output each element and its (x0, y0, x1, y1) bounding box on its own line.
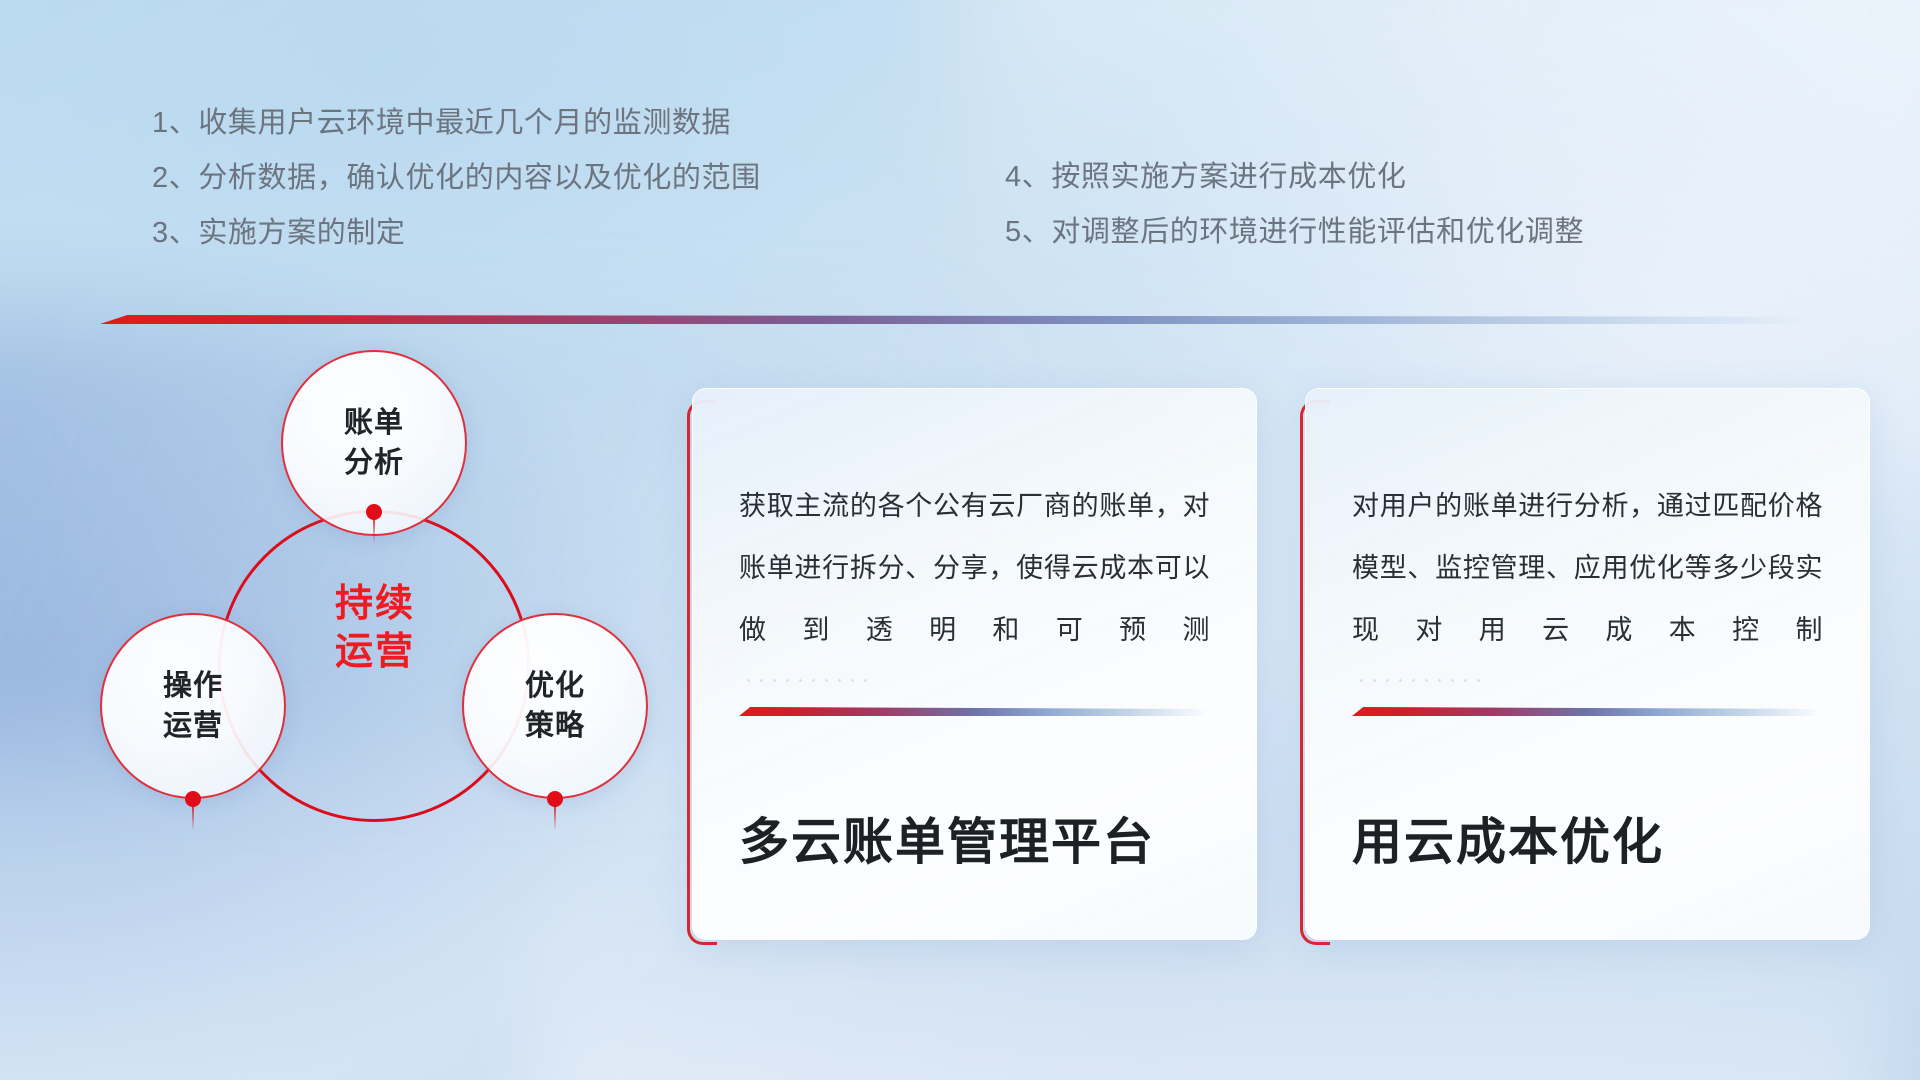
node-marker-tail-icon (373, 518, 375, 544)
card-rule-bar (1352, 707, 1820, 716)
card-rule-bar (739, 707, 1207, 716)
node-label-line2: 运营 (163, 706, 223, 746)
card-gradient-rule (739, 707, 1207, 716)
node-marker-dot-icon (366, 504, 382, 520)
node-label-line1: 优化 (525, 666, 585, 706)
center-label-line2: 运营 (290, 628, 460, 676)
diagram-center-label: 持续 运营 (290, 580, 460, 676)
steps-left-column: 1、收集用户云环境中最近几个月的监测数据 2、分析数据，确认优化的内容以及优化的… (152, 96, 872, 261)
divider-gradient-bar (100, 315, 1812, 324)
card-body: 获取主流的各个公有云厂商的账单，对账单进行拆分、分享，使得云成本可以做到透明和可… (692, 388, 1257, 940)
feature-card-multi-cloud-billing-platform[interactable]: 获取主流的各个公有云厂商的账单，对账单进行拆分、分享，使得云成本可以做到透明和可… (692, 388, 1257, 940)
center-label-line1: 持续 (290, 580, 460, 628)
node-marker-tail-icon (192, 805, 194, 831)
step-item: 1、收集用户云环境中最近几个月的监测数据 (152, 96, 872, 151)
node-label-line2: 分析 (344, 443, 404, 483)
step-item: 3、实施方案的制定 (152, 206, 872, 261)
node-marker-dot-icon (547, 791, 563, 807)
node-marker-dot-icon (185, 791, 201, 807)
card-dotted-ornament-icon (739, 665, 869, 685)
continuous-operation-diagram: 账单 分析 操作 运营 优化 策略 持续 运营 (100, 350, 660, 950)
diagram-node-operation[interactable]: 操作 运营 (100, 613, 286, 799)
diagram-node-optimization-strategy[interactable]: 优化 策略 (462, 613, 648, 799)
card-description: 获取主流的各个公有云厂商的账单，对账单进行拆分、分享，使得云成本可以做到透明和可… (739, 475, 1210, 661)
node-label-line2: 策略 (525, 706, 585, 746)
slide-root: 1、收集用户云环境中最近几个月的监测数据 2、分析数据，确认优化的内容以及优化的… (0, 0, 1920, 1080)
node-label-line1: 操作 (163, 666, 223, 706)
card-gradient-rule (1352, 707, 1820, 716)
step-item: 4、按照实施方案进行成本优化 (1005, 150, 1765, 205)
step-item: 5、对调整后的环境进行性能评估和优化调整 (1005, 205, 1765, 260)
step-item: 2、分析数据，确认优化的内容以及优化的范围 (152, 151, 872, 206)
card-body: 对用户的账单进行分析，通过匹配价格模型、监控管理、应用优化等多少段实现对用云成本… (1305, 388, 1870, 940)
node-marker-tail-icon (554, 805, 556, 831)
card-description: 对用户的账单进行分析，通过匹配价格模型、监控管理、应用优化等多少段实现对用云成本… (1352, 475, 1823, 661)
steps-right-column: 4、按照实施方案进行成本优化 5、对调整后的环境进行性能评估和优化调整 (1005, 150, 1765, 260)
feature-card-cloud-cost-optimization[interactable]: 对用户的账单进行分析，通过匹配价格模型、监控管理、应用优化等多少段实现对用云成本… (1305, 388, 1870, 940)
card-dotted-ornament-icon (1352, 665, 1482, 685)
section-divider (100, 315, 1812, 324)
node-label-line1: 账单 (344, 403, 404, 443)
card-title: 多云账单管理平台 (739, 812, 1210, 872)
card-title: 用云成本优化 (1352, 812, 1823, 872)
